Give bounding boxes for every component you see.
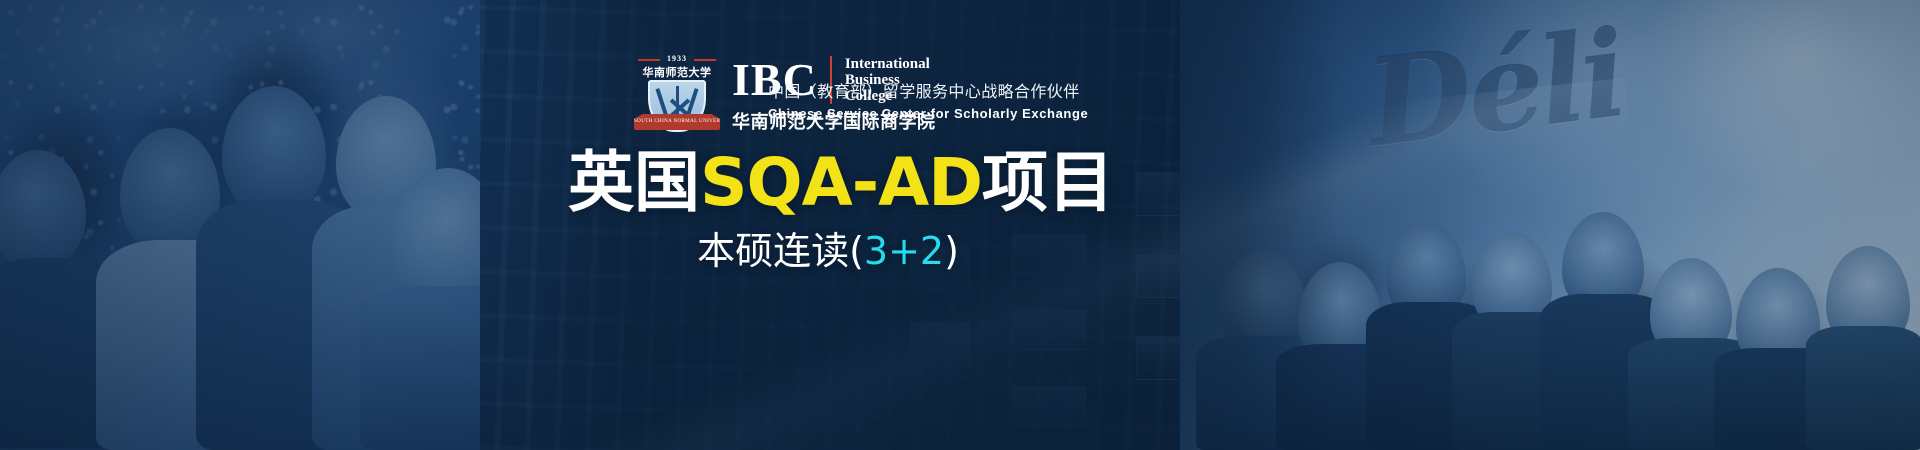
ibc-english-line-1: International [845,56,930,72]
crest-university-name-en: SOUTH CHINA NORMAL UNIVERSITY [634,114,720,130]
subline-highlight: 3+2 [864,229,944,273]
headline-highlight: SQA-AD [700,144,982,221]
banner-content: 1933 华南师范大学 SOUTH CHINA NORMAL UNIVERSIT… [0,0,1920,450]
headline-prefix: 英国 [568,144,700,221]
subline-prefix: 本硕连读( [697,229,864,273]
partner-endorsement: 中国（教育部）留学服务中心战略合作伙伴 Chinese Service Cent… [768,78,1088,121]
headline-suffix: 项目 [982,144,1114,221]
page-title: 英国SQA-AD项目 [568,146,1088,220]
crest-founding-year: 1933 [636,54,718,63]
subline-suffix: ) [944,229,959,273]
shield-stroke-left [655,88,668,118]
crest-ribbon: SOUTH CHINA NORMAL UNIVERSITY [634,114,720,130]
sqa-ad-program-banner: Déli 1933 华南师范大学 [0,0,1920,450]
page-subtitle: 本硕连读(3+2) [568,228,1088,274]
partner-text-english: Chinese Service Center for Scholarly Exc… [768,106,1088,121]
crest-university-name-cn: 华南师范大学 [636,64,718,80]
university-crest-icon: 1933 华南师范大学 SOUTH CHINA NORMAL UNIVERSIT… [636,52,718,144]
partner-text-chinese: 中国（教育部）留学服务中心战略合作伙伴 [768,78,1088,102]
